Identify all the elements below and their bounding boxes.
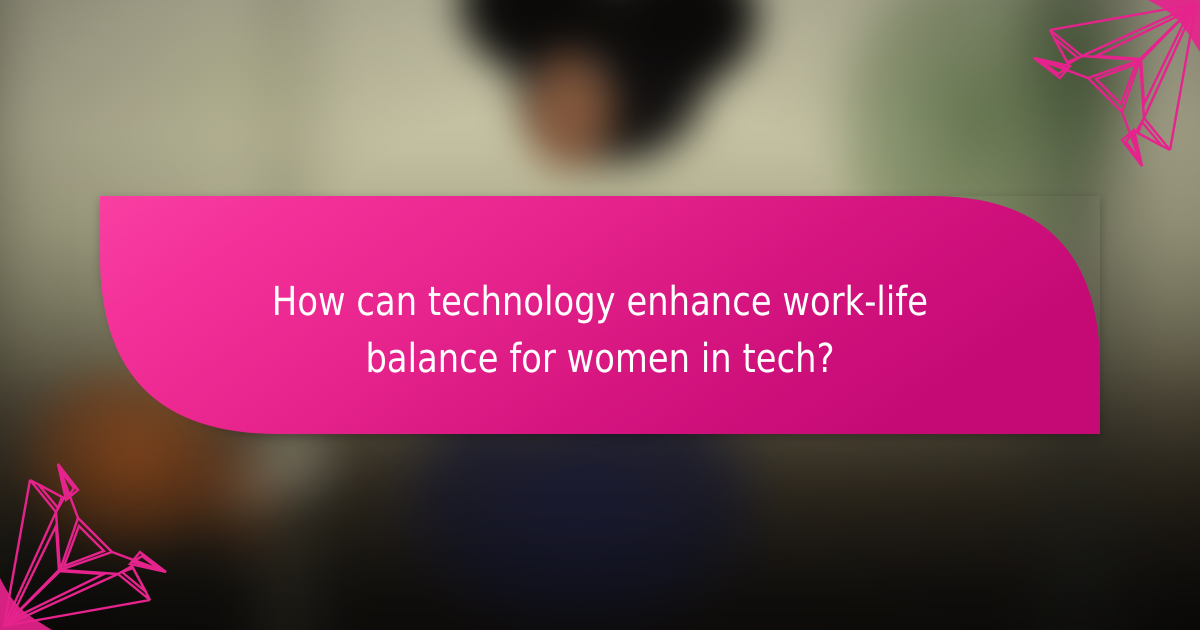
social-quote-card: How can technology enhance work-life bal… xyxy=(0,0,1200,630)
headline-text: How can technology enhance work-life bal… xyxy=(133,274,1068,388)
headline-line-2: balance for women in tech? xyxy=(133,331,1068,388)
headline-banner: How can technology enhance work-life bal… xyxy=(100,196,1100,434)
headline-line-1: How can technology enhance work-life xyxy=(133,274,1068,331)
